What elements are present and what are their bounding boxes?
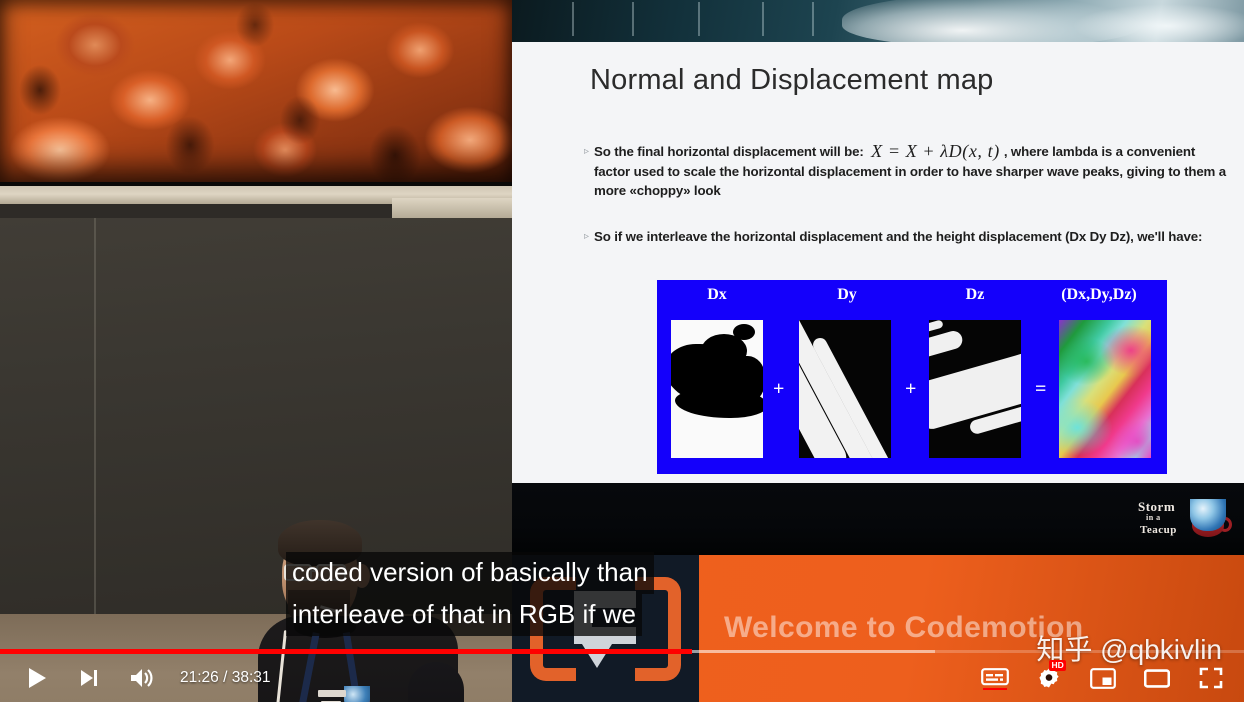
wave-foam-secondary bbox=[1072, 4, 1244, 42]
figure-label-dx: Dx bbox=[667, 286, 767, 304]
tshirt-storm-in-a-teacup-logo bbox=[318, 682, 372, 702]
texture-dz bbox=[929, 320, 1021, 458]
logo-line-3: Teacup bbox=[1140, 524, 1177, 536]
blackboard-seam bbox=[94, 218, 96, 630]
figure-operator-plus-1: + bbox=[773, 378, 784, 401]
next-button[interactable] bbox=[74, 663, 104, 693]
bullet-1-pre: So the final horizontal displacement wil… bbox=[594, 144, 864, 159]
fullscreen-icon[interactable] bbox=[1196, 663, 1226, 693]
audience-vignette bbox=[0, 0, 512, 182]
settings-gear-icon[interactable]: HD bbox=[1034, 663, 1064, 693]
ceiling-strip-right bbox=[392, 198, 512, 218]
bullet-item: ▹ So the final horizontal displacement w… bbox=[584, 142, 1232, 201]
miniplayer-icon[interactable] bbox=[1088, 663, 1118, 693]
time-display: 21:26 / 38:31 bbox=[180, 669, 271, 687]
figure-labels: Dx Dy Dz (Dx,Dy,Dz) bbox=[657, 286, 1167, 312]
wave-photo-header bbox=[512, 0, 1244, 42]
caption-line-2: interleave of that in RGB if we bbox=[286, 594, 642, 636]
bullet-marker: ▹ bbox=[584, 227, 589, 247]
figure-label-dy: Dy bbox=[797, 286, 897, 304]
figure-operator-equals: = bbox=[1035, 378, 1046, 401]
slide-bullet-list: ▹ So the final horizontal displacement w… bbox=[584, 142, 1232, 263]
player-controls-right: HD bbox=[980, 658, 1226, 698]
logo-line-2: in a bbox=[1146, 513, 1161, 522]
bullet-2-pre: So if we interleave the horizontal displ… bbox=[594, 229, 1069, 244]
caption-line-1: coded version of basically than bbox=[286, 552, 654, 594]
theater-mode-icon[interactable] bbox=[1142, 663, 1172, 693]
volume-button[interactable] bbox=[126, 663, 156, 693]
subtitles-icon[interactable] bbox=[980, 663, 1010, 693]
bullet-text: So if we interleave the horizontal displ… bbox=[594, 227, 1202, 247]
video-player: Normal and Displacement map ▹ So the fin… bbox=[0, 0, 1244, 702]
texture-dx bbox=[671, 320, 763, 458]
texture-dy bbox=[799, 320, 891, 458]
caption-overlay: coded version of basically than interlea… bbox=[286, 552, 654, 636]
hd-quality-badge: HD bbox=[1049, 660, 1066, 671]
subtitles-active-underline bbox=[983, 688, 1007, 691]
figure-label-rgb: (Dx,Dy,Dz) bbox=[1035, 286, 1163, 304]
audience-photo bbox=[0, 0, 512, 182]
banner-text: Welcome to Codemotion bbox=[724, 611, 1084, 645]
slide-footer: Storm in a Teacup bbox=[512, 483, 1244, 555]
figure-operator-plus-2: + bbox=[905, 378, 916, 401]
bullet-text: So the final horizontal displacement wil… bbox=[594, 142, 1232, 201]
displacement-maps-figure: Dx Dy Dz (Dx,Dy,Dz) + bbox=[657, 280, 1167, 474]
player-controls-left: 21:26 / 38:31 bbox=[22, 658, 271, 698]
slide-title: Normal and Displacement map bbox=[590, 64, 994, 97]
progress-bar[interactable] bbox=[0, 649, 1244, 654]
storm-in-a-teacup-logo: Storm in a Teacup bbox=[1136, 497, 1228, 541]
play-button[interactable] bbox=[22, 663, 52, 693]
slide-content: Normal and Displacement map ▹ So the fin… bbox=[512, 42, 1244, 483]
bullet-2-post: ), we'll have: bbox=[1126, 229, 1202, 244]
bullet-2-bold: Dx Dy Dz bbox=[1069, 229, 1125, 244]
progress-played bbox=[0, 649, 692, 654]
figure-label-dz: Dz bbox=[925, 286, 1025, 304]
texture-combined-rgb bbox=[1059, 320, 1151, 458]
bullet-marker: ▹ bbox=[584, 142, 589, 201]
bullet-1-equation: X = X + λD(x, t) bbox=[867, 141, 1004, 161]
bullet-item: ▹ So if we interleave the horizontal dis… bbox=[584, 227, 1232, 247]
